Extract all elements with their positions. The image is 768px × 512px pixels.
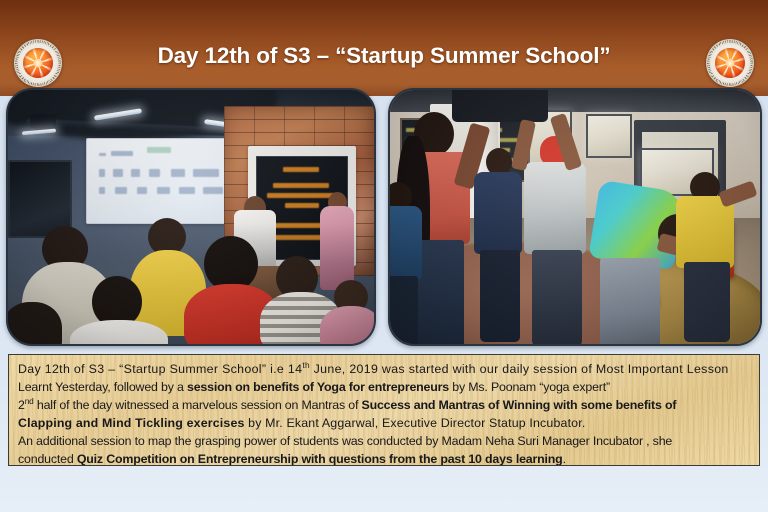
description-line-4: Clapping and Mind Tickling exercises by … — [18, 414, 752, 432]
line1-superscript: th — [302, 360, 310, 370]
line5-part-a: An additional session to map the graspin… — [18, 434, 672, 448]
line3-part-b: half of the day witnessed a marvelous se… — [34, 398, 362, 412]
line1-part-a: Day 12th of S3 – “Startup Summer School”… — [18, 362, 302, 376]
line4-bold: Clapping and Mind Tickling exercises — [18, 416, 245, 430]
logo-core — [726, 59, 735, 68]
line6-part-a: conducted — [18, 452, 77, 466]
logo-disc — [23, 48, 53, 78]
logo-disc — [715, 48, 745, 78]
whiteboard — [86, 138, 236, 224]
line4-part-a: by Mr. Ekant Aggarwal, Executive Directo… — [245, 416, 586, 430]
line3-superscript: nd — [25, 396, 34, 406]
institution-logo-right-icon — [706, 39, 754, 87]
description-line-6: conducted Quiz Competition on Entreprene… — [18, 450, 752, 466]
yoga-session-photo — [388, 88, 762, 346]
line2-bold: session on benefits of Yoga for entrepre… — [187, 380, 452, 394]
line3-bold: Success and Mantras of Winning with some… — [361, 398, 676, 412]
slide-root: Day 12th of S3 – “Startup Summer School” — [0, 0, 768, 512]
logo-core — [34, 59, 43, 68]
line6-bold: Quiz Competition on Entrepreneurship wit… — [77, 452, 563, 466]
description-line-2: Learnt Yesterday, followed by a session … — [18, 378, 752, 396]
line2-part-b: by Ms. Poonam “yoga expert” — [452, 380, 610, 394]
line2-part-a: Learnt Yesterday, followed by a — [18, 380, 187, 394]
line6-part-b: . — [563, 452, 566, 466]
classroom-session-photo — [6, 88, 376, 346]
institution-logo-left-icon — [14, 39, 62, 87]
description-line-5: An additional session to map the graspin… — [18, 432, 752, 450]
description-line-1: Day 12th of S3 – “Startup Summer School”… — [18, 360, 752, 378]
photo-row — [0, 88, 768, 346]
line1-part-b: June, 2019 was started with our daily se… — [310, 362, 729, 376]
description-textbox: Day 12th of S3 – “Startup Summer School”… — [8, 354, 760, 466]
line3-part-a: 2 — [18, 398, 25, 412]
description-line-3: 2nd half of the day witnessed a marvelou… — [18, 396, 752, 414]
page-title: Day 12th of S3 – “Startup Summer School” — [0, 43, 768, 69]
